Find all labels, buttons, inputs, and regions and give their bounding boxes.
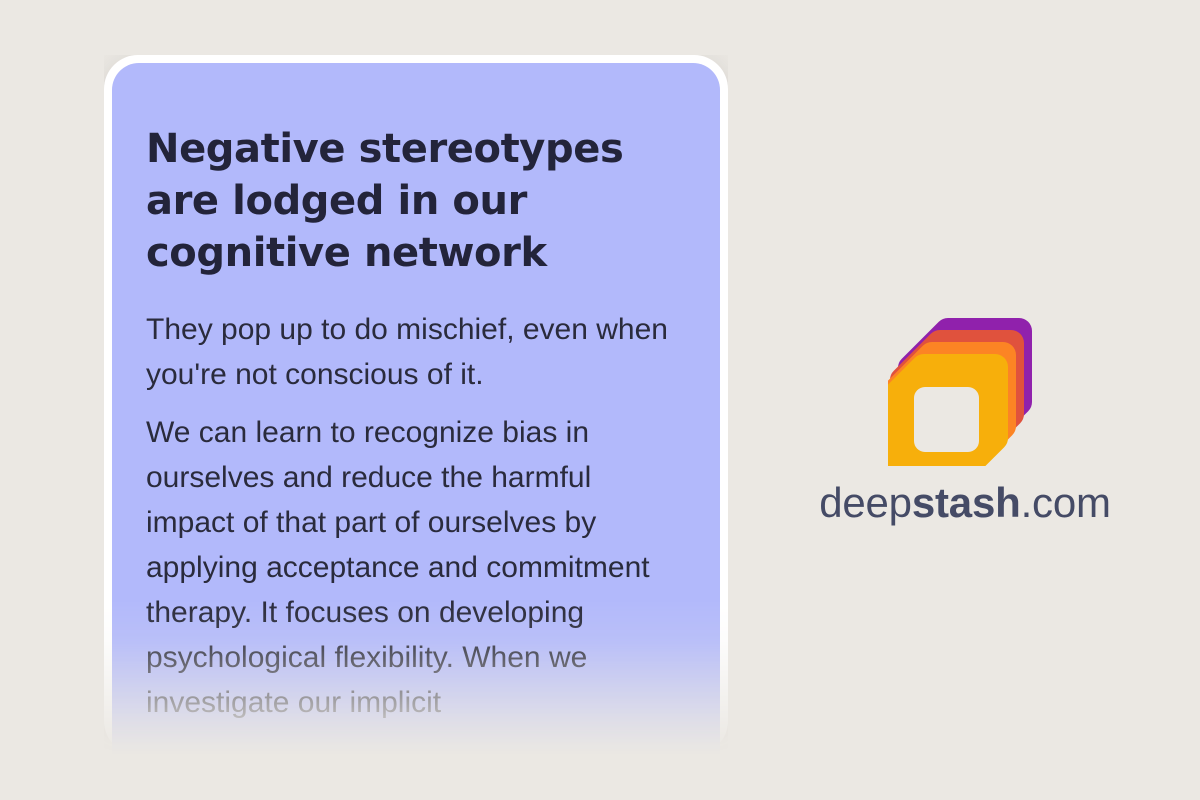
card-body: They pop up to do mischief, even when yo… xyxy=(146,279,672,725)
card-title: Negative stereotypes are lodged in our c… xyxy=(146,123,672,279)
idea-card[interactable]: Negative stereotypes are lodged in our c… xyxy=(104,55,728,755)
logo-cutout-square xyxy=(914,387,979,452)
wordmark-emphasis: stash xyxy=(912,479,1021,526)
card-surface: Negative stereotypes are lodged in our c… xyxy=(112,63,720,755)
card-fade-mask: Negative stereotypes are lodged in our c… xyxy=(104,55,728,755)
deepstash-logo xyxy=(888,314,1036,466)
card-paragraph: They pop up to do mischief, even when yo… xyxy=(146,307,672,397)
card-content: Negative stereotypes are lodged in our c… xyxy=(112,63,720,725)
brand-wordmark[interactable]: deepstash.com xyxy=(800,478,1130,528)
brand-block: deepstash.com xyxy=(800,300,1130,550)
card-paragraph: We can learn to recognize bias in oursel… xyxy=(146,410,672,725)
wordmark-suffix: .com xyxy=(1021,479,1111,526)
stacked-cubes-icon xyxy=(888,314,1036,466)
page-root: Negative stereotypes are lodged in our c… xyxy=(0,0,1200,800)
wordmark-prefix: deep xyxy=(819,479,912,526)
